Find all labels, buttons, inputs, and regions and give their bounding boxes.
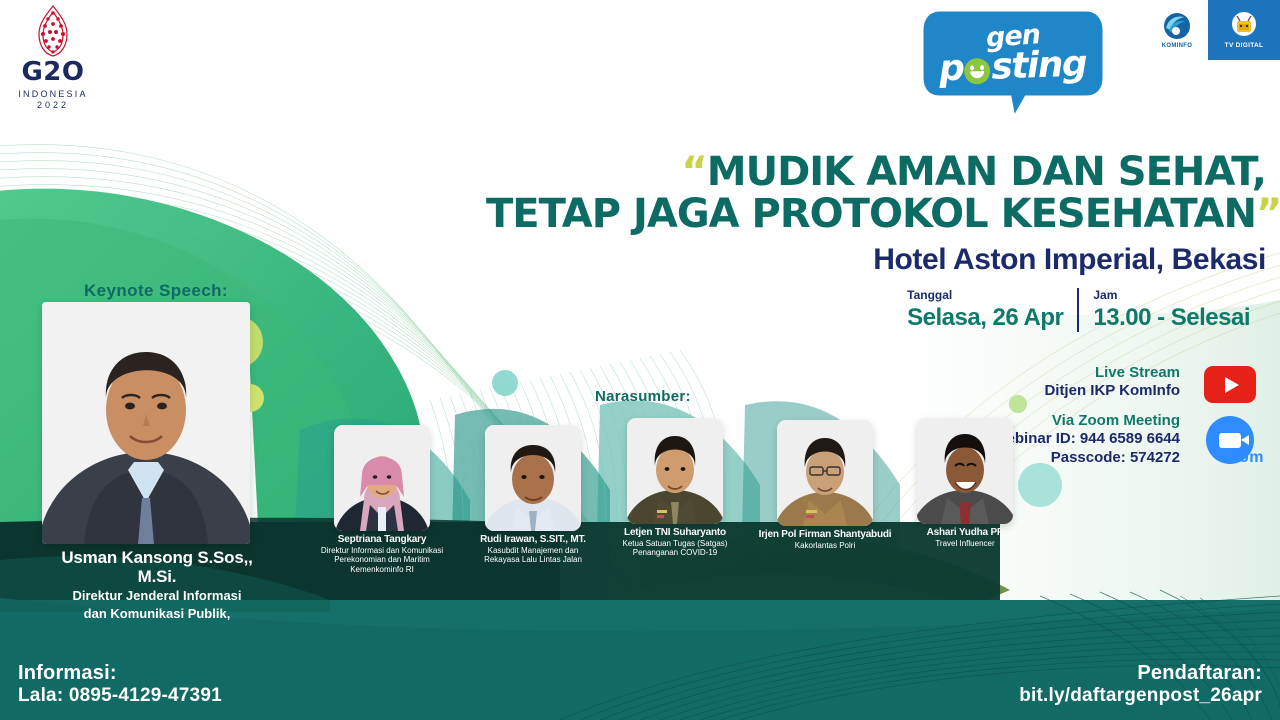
g20-logo: G2O INDONESIA 2022 (8, 4, 98, 116)
live-stream-label: Live Stream (993, 364, 1180, 382)
headline-text-1: MUDIK AMAN DAN SEHAT, (707, 149, 1266, 195)
g20-year: 2022 (8, 100, 98, 111)
speaker-portrait (485, 425, 581, 531)
speech-bubble-shape (918, 2, 1108, 120)
close-quote: ” (1256, 191, 1280, 237)
date-column: Tanggal Selasa, 26 Apr (893, 288, 1077, 332)
speaker-portrait (917, 418, 1013, 524)
registration-label: Pendaftaran: (1019, 662, 1262, 684)
registration-link[interactable]: bit.ly/daftargenpost_26apr (1019, 685, 1262, 708)
keynote-name: Usman Kansong S.Sos,, M.Si. (42, 549, 272, 586)
youtube-icon[interactable] (1204, 366, 1256, 403)
top-logo-bar: KOMINFO TV DIGITAL (1146, 0, 1280, 60)
time-column: Jam 13.00 - Selesai (1077, 288, 1264, 332)
headline-line-2: TETAP JAGA PROTOKOL KESEHATAN” (486, 194, 1266, 236)
keynote-portrait (42, 302, 250, 544)
speaker-card: Ashari Yudha PP Travel Influencer (875, 418, 1055, 548)
event-headline: “MUDIK AMAN DAN SEHAT, TETAP JAGA PROTOK… (486, 152, 1266, 235)
date-label: Tanggal (907, 288, 1063, 302)
footer-info: Informasi: Lala: 0895-4129-47391 (18, 662, 222, 708)
speaker-meta: Ashari Yudha PP Travel Influencer (875, 527, 1055, 548)
tv-digital-logo: TV DIGITAL (1208, 0, 1280, 60)
headline-line-1: “MUDIK AMAN DAN SEHAT, (486, 152, 1266, 194)
open-quote: “ (681, 149, 706, 195)
info-contact: Lala: 0895-4129-47391 (18, 685, 222, 708)
kominfo-caption: KOMINFO (1162, 43, 1192, 49)
narasumber-section-label: Narasumber: (595, 388, 691, 405)
keynote-meta: Usman Kansong S.Sos,, M.Si. Direktur Jen… (42, 549, 272, 621)
venue-text: Hotel Aston Imperial, Bekasi (486, 243, 1266, 277)
keynote-role-line2: dan Komunikasi Publik, (42, 606, 272, 621)
headline-text-2: TETAP JAGA PROTOKOL KESEHATAN (486, 191, 1256, 237)
portrait-illustration (627, 418, 723, 524)
speaker-name: Ashari Yudha PP (875, 527, 1055, 538)
tv-digital-caption: TV DIGITAL (1225, 42, 1264, 49)
speaker-role: Travel Influencer (875, 539, 1055, 548)
kominfo-wave-icon (1160, 12, 1194, 42)
speaker-portrait (627, 418, 723, 524)
live-stream-channel: Ditjen IKP KomInfo (993, 382, 1180, 401)
webinar-poster: G2O INDONESIA 2022 KOMINFO TV DIGITAL (0, 0, 1280, 720)
portrait-illustration (42, 302, 250, 544)
g20-wordmark: G2O (8, 59, 98, 85)
genposting-logo: gen p sting (918, 2, 1108, 120)
time-label: Jam (1093, 288, 1250, 302)
portrait-illustration (777, 420, 873, 526)
keynote-section-label: Keynote Speech: (84, 281, 228, 301)
keynote-role-line1: Direktur Jenderal Informasi (42, 588, 272, 603)
time-value: 13.00 - Selesai (1093, 304, 1250, 332)
footer-registration: Pendaftaran: bit.ly/daftargenpost_26apr (1019, 662, 1262, 708)
portrait-illustration (334, 425, 430, 531)
speaker-portrait (334, 425, 430, 531)
speaker-portrait (777, 420, 873, 526)
g20-country: INDONESIA (8, 88, 98, 100)
g20-ornament-icon (8, 4, 98, 58)
tv-digital-mascot-icon (1227, 11, 1261, 41)
portrait-illustration (917, 418, 1013, 524)
portrait-illustration (485, 425, 581, 531)
date-value: Selasa, 26 Apr (907, 304, 1063, 332)
zoom-wordmark: zoom (1220, 449, 1264, 467)
schedule-block: Tanggal Selasa, 26 Apr Jam 13.00 - Seles… (893, 288, 1264, 332)
keynote-speaker: Usman Kansong S.Sos,, M.Si. Direktur Jen… (42, 302, 272, 621)
info-label: Informasi: (18, 662, 222, 684)
kominfo-logo: KOMINFO (1146, 0, 1208, 60)
